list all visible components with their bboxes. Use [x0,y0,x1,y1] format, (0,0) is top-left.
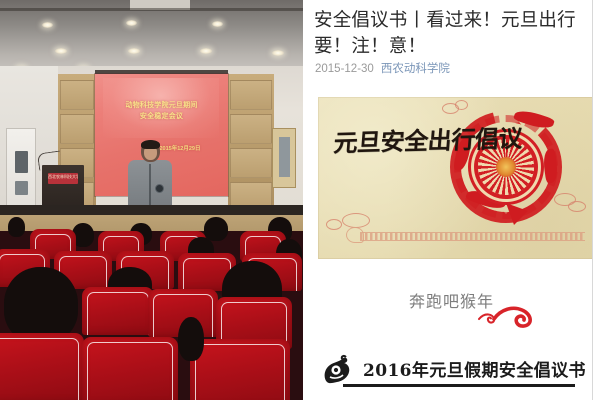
wood-panel [60,114,94,144]
ceiling-light [212,21,223,27]
page-edge-divider [592,0,593,400]
cloud-ornament-icon [342,213,370,228]
wood-panel [230,80,272,110]
article-meta: 2015-12-30西农动科学院 [315,62,450,76]
bottom-heading-text: 2016年元旦假期安全倡议书 [363,356,586,381]
cloud-ornament-icon [326,219,342,230]
ceiling-light [272,50,284,56]
ceiling-light [42,22,53,28]
banner-image: 元旦安全出行倡议 [318,97,593,259]
arrow-icon [504,201,530,227]
cloud-ornament-icon [455,100,468,110]
red-cloud-swirl-icon [477,302,535,328]
wood-panel [60,80,94,110]
cloud-ornament-icon [568,201,586,212]
slide-title-line2: 安全稳定会议 [103,112,220,122]
banner-border-strip [360,232,585,241]
meeting-photo: 动物科技学院元旦期间 安全稳定会议 2015年12月29日 西北农林科技大学 [0,0,303,400]
article-column: 安全倡议书丨看过来！元旦出行要！注！意！ 2015-12-30西农动科学院 [303,0,600,400]
ceiling-edge [0,8,303,11]
wall-fixture [272,128,296,188]
banner-strip-ornament [346,227,364,243]
article-page: 动物科技学院元旦期间 安全稳定会议 2015年12月29日 西北农林科技大学 [0,0,600,400]
ceiling-light [200,48,212,54]
jacket-badge [155,184,164,193]
wood-panel [230,114,272,144]
speaker-hair [141,140,160,149]
banner-headline: 元旦安全出行倡议 [332,119,523,159]
attendee-head [204,217,228,241]
slide-title-line1: 动物科技学院元旦期间 [103,101,220,111]
rosette-core [496,157,516,177]
attendee-head [4,267,78,343]
bottom-heading-rule [343,384,575,387]
wall-cabinet [6,128,36,213]
auditorium-seat [82,287,154,335]
cabinet-panel [15,151,28,173]
auditorium-seat [82,337,178,400]
speaker-head [141,140,160,162]
auditorium-seat [190,339,290,400]
auditorium-seat [0,333,84,400]
attendee-head [178,317,204,361]
article-title: 安全倡议书丨看过来！元旦出行要！注！意！ [314,7,592,59]
cabinet-panel [15,181,28,195]
monkey-papercut-icon [321,354,355,386]
monkey-year-slogan-block: 奔跑吧猴年 [303,288,600,312]
wood-panel [230,148,272,178]
ceiling-light [126,20,137,26]
audience-area [0,205,303,400]
author-link[interactable]: 西农动科学院 [381,63,450,75]
ceiling-light [128,48,140,54]
attendee-head [8,217,25,237]
bottom-heading-block: 2016年元旦假期安全倡议书 [321,352,583,394]
podium-plate: 西北农林科技大学 [48,173,78,184]
ceiling-light [55,48,67,54]
stage-shadow [0,205,303,215]
wall-fixture-inner [279,137,290,177]
publish-date: 2015-12-30 [315,63,374,75]
